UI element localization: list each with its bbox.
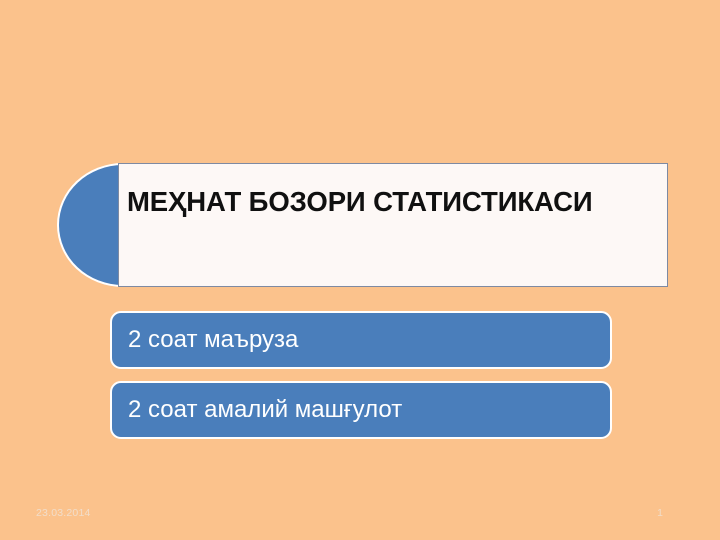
title-group [0, 0, 720, 540]
footer-page-number: 1 [636, 507, 684, 519]
body-item-label-2: 2 соат амалий машғулот [112, 396, 402, 425]
title-placeholder-box [118, 163, 668, 287]
footer-date: 23.03.2014 [36, 507, 91, 519]
slide-canvas: МЕҲНАТ БОЗОРИ СТАТИСТИКАСИ 2 соат маъруз… [0, 0, 720, 540]
body-item-label-1: 2 соат маъруза [112, 326, 298, 355]
body-item-box-2[interactable]: 2 соат амалий машғулот [110, 381, 612, 439]
body-item-box-1[interactable]: 2 соат маъруза [110, 311, 612, 369]
title-half-disc-decoration [57, 163, 123, 287]
page-title: МЕҲНАТ БОЗОРИ СТАТИСТИКАСИ [127, 186, 661, 218]
